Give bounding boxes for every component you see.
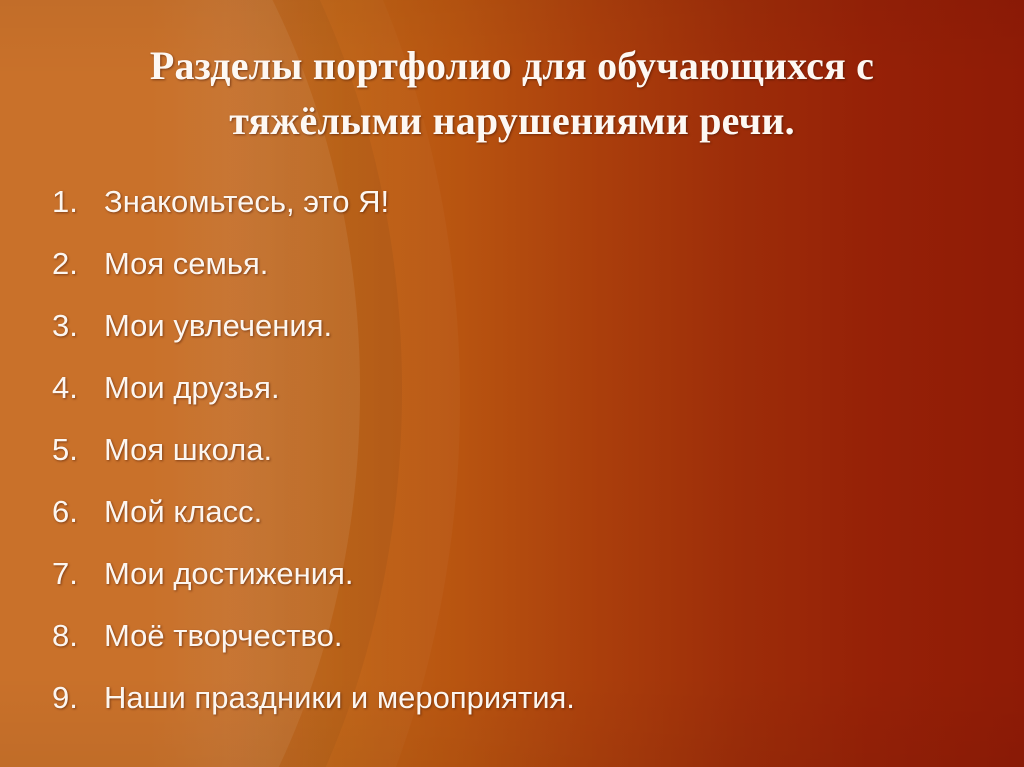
slide-title-line-2: тяжёлыми нарушениями речи. (70, 93, 954, 148)
list-item-label: Моя школа. (104, 432, 982, 468)
presentation-slide: Разделы портфолио для обучающихся с тяжё… (0, 0, 1024, 767)
list-item: 1. Знакомьтесь, это Я! (52, 184, 982, 246)
list-item-label: Мои достижения. (104, 556, 982, 592)
list-item-number: 9. (52, 680, 104, 716)
list-item-label: Мои увлечения. (104, 308, 982, 344)
list-item-number: 4. (52, 370, 104, 406)
list-item-number: 1. (52, 184, 104, 220)
list-item: 4. Мои друзья. (52, 370, 982, 432)
list-item-number: 5. (52, 432, 104, 468)
list-item-number: 7. (52, 556, 104, 592)
list-item-label: Мои друзья. (104, 370, 982, 406)
list-item-label: Знакомьтесь, это Я! (104, 184, 982, 220)
portfolio-sections-list: 1. Знакомьтесь, это Я! 2. Моя семья. 3. … (52, 184, 982, 742)
list-item-label: Наши праздники и мероприятия. (104, 680, 982, 716)
list-item-number: 8. (52, 618, 104, 654)
list-item-label: Моя семья. (104, 246, 982, 282)
list-item: 2. Моя семья. (52, 246, 982, 308)
slide-title: Разделы портфолио для обучающихся с тяжё… (70, 38, 954, 148)
slide-title-line-1: Разделы портфолио для обучающихся с (70, 38, 954, 93)
list-item-label: Моё творчество. (104, 618, 982, 654)
list-item-number: 6. (52, 494, 104, 530)
list-item: 8. Моё творчество. (52, 618, 982, 680)
list-item-number: 2. (52, 246, 104, 282)
list-item: 7. Мои достижения. (52, 556, 982, 618)
list-item-label: Мой класс. (104, 494, 982, 530)
list-item: 9. Наши праздники и мероприятия. (52, 680, 982, 742)
list-item: 6. Мой класс. (52, 494, 982, 556)
list-item-number: 3. (52, 308, 104, 344)
list-item: 5. Моя школа. (52, 432, 982, 494)
list-item: 3. Мои увлечения. (52, 308, 982, 370)
